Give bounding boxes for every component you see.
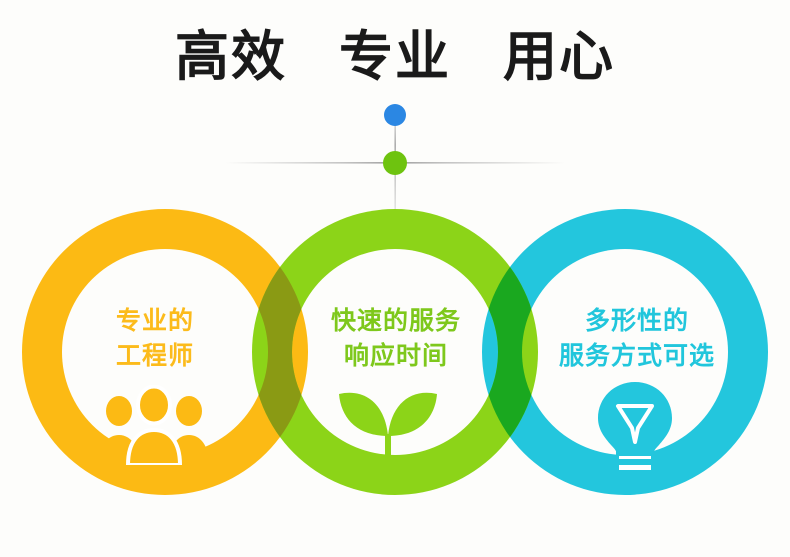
blue-dot-icon bbox=[384, 104, 406, 126]
green-dot-icon bbox=[383, 151, 407, 175]
horizontal-guide-line bbox=[225, 162, 565, 164]
infographic-canvas: 高效专业用心 bbox=[0, 0, 790, 557]
circle-3-label: 多形性的 服务方式可选 bbox=[528, 303, 746, 373]
circle-1-line-1: 专业的 bbox=[116, 306, 194, 335]
circle-3-line-2: 服务方式可选 bbox=[528, 338, 746, 373]
circle-3-line-1: 多形性的 bbox=[585, 306, 689, 335]
circle-2-line-2: 响应时间 bbox=[296, 338, 496, 373]
page-title: 高效专业用心 bbox=[0, 26, 790, 88]
circle-1-label: 专业的 工程师 bbox=[60, 303, 250, 373]
headline-word-2: 专业 bbox=[339, 25, 451, 88]
circle-2-line-1: 快速的服务 bbox=[331, 306, 461, 335]
headline-word-1: 高效 bbox=[175, 25, 287, 88]
headline-word-3: 用心 bbox=[503, 25, 615, 88]
circle-2-label: 快速的服务 响应时间 bbox=[296, 303, 496, 373]
circle-1-line-2: 工程师 bbox=[60, 338, 250, 373]
